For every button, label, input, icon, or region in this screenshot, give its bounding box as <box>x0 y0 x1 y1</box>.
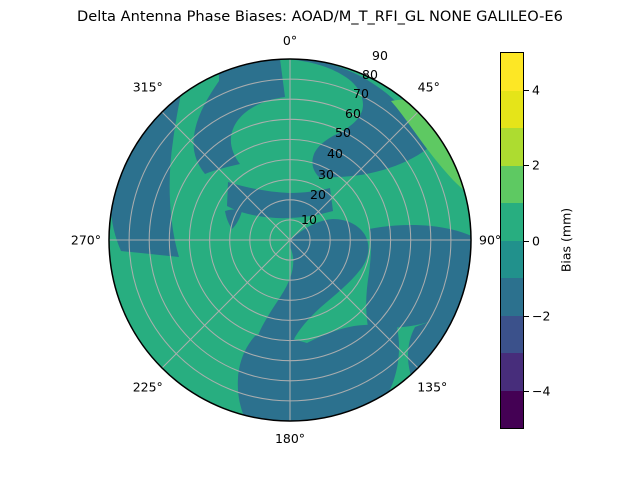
theta-tick-315: 315° <box>133 80 163 95</box>
colorbar-tick <box>524 165 529 166</box>
colorbar-tick <box>524 241 529 242</box>
r-tick-40: 40 <box>327 146 343 161</box>
colorbar-tick <box>524 391 529 392</box>
colorbar-band <box>501 241 523 279</box>
colorbar-band <box>501 128 523 166</box>
r-tick-80: 80 <box>362 67 378 82</box>
contour-region-south-negative <box>238 325 399 423</box>
polar-plot-axes: 0° 45° 90° 135° 180° 225° 270° 315° 10 2… <box>107 57 473 423</box>
matplotlib-figure: Delta Antenna Phase Biases: AOAD/M_T_RFI… <box>0 0 640 480</box>
polar-contour-svg <box>107 57 473 423</box>
colorbar-tick <box>524 90 529 91</box>
r-tick-30: 30 <box>318 167 334 182</box>
colorbar-band <box>501 353 523 391</box>
colorbar-band <box>501 203 523 241</box>
colorbar-band <box>501 91 523 129</box>
colorbar-label: Bias (mm) <box>559 208 574 272</box>
theta-tick-270: 270° <box>71 233 101 248</box>
colorbar-band <box>501 166 523 204</box>
colorbar-tick-label: −4 <box>532 384 550 399</box>
colorbar-tick-label: 0 <box>532 233 540 248</box>
colorbar-tick-label: 2 <box>532 158 540 173</box>
theta-tick-225: 225° <box>133 380 163 395</box>
colorbar-gradient <box>500 52 524 429</box>
r-tick-70: 70 <box>353 86 369 101</box>
colorbar-band <box>501 391 523 429</box>
colorbar-tick-label: 4 <box>532 82 540 97</box>
theta-tick-180: 180° <box>275 431 305 446</box>
colorbar-band <box>501 53 523 91</box>
theta-tick-0: 0° <box>283 33 297 48</box>
r-tick-10: 10 <box>301 212 317 227</box>
r-tick-50: 50 <box>335 125 351 140</box>
colorbar[interactable]: −4−2024 <box>500 52 524 429</box>
colorbar-tick-label: −2 <box>532 308 550 323</box>
theta-tick-135: 135° <box>417 380 447 395</box>
theta-tick-45: 45° <box>418 80 440 95</box>
colorbar-band <box>501 316 523 354</box>
colorbar-tick <box>524 316 529 317</box>
r-tick-60: 60 <box>345 106 361 121</box>
polar-grid <box>109 59 471 421</box>
r-tick-20: 20 <box>310 187 326 202</box>
r-tick-90: 90 <box>372 48 388 63</box>
chart-title: Delta Antenna Phase Biases: AOAD/M_T_RFI… <box>0 8 640 25</box>
theta-tick-90: 90° <box>479 233 501 248</box>
colorbar-band <box>501 278 523 316</box>
